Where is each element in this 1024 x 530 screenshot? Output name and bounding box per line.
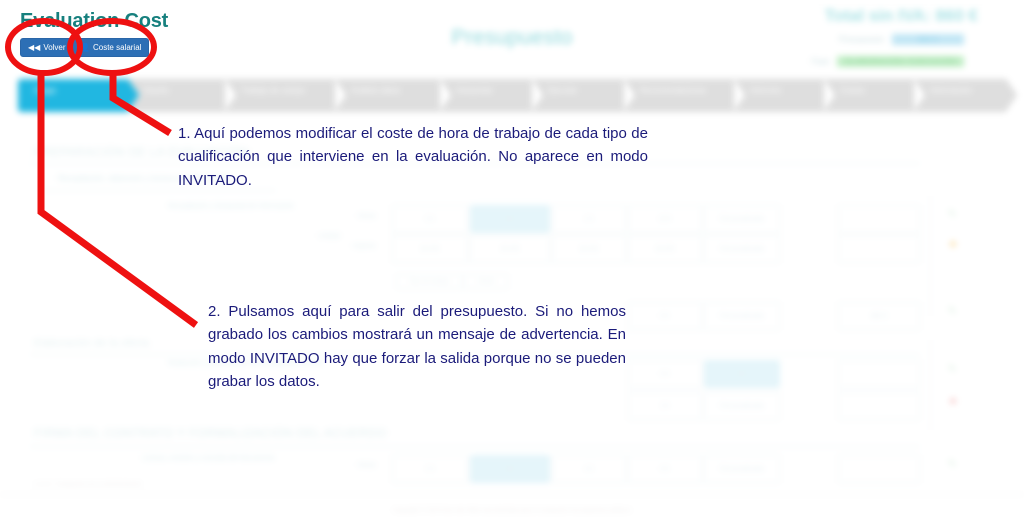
annotation-marks: [0, 0, 1024, 530]
annotation-overlay: Evaluation Cost ◀◀ Volver 👤 Coste salari…: [0, 0, 1024, 530]
arrow-to-callout-2: [41, 74, 196, 325]
arrow-to-callout-1: [113, 74, 170, 133]
